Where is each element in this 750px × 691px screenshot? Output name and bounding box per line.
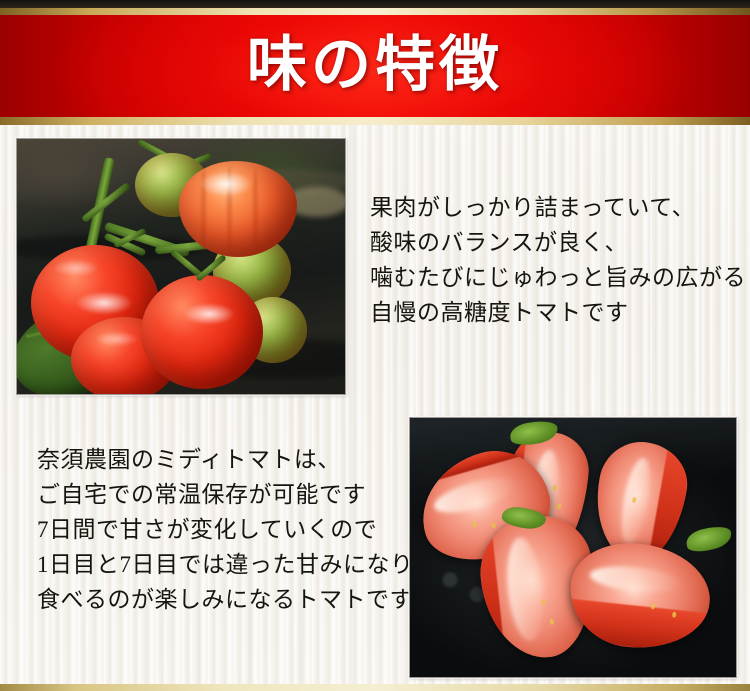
- header-top-dark-band: [0, 0, 750, 8]
- header-bottom-gold-rule: [0, 117, 750, 125]
- bottom-text-line-5: 食べるのが楽しみになるトマトです: [37, 582, 436, 617]
- header-top-gold-rule: [0, 8, 750, 15]
- tomato-highlight: [75, 291, 133, 315]
- red-tomato: [141, 275, 263, 389]
- section-header-banner: 味の特徴: [0, 0, 750, 125]
- top-text-line-1: 果肉がしっかり詰まっていて、: [370, 190, 746, 225]
- top-text-line-2: 酸味のバランスが良く、: [370, 225, 746, 260]
- tomato-highlight: [183, 303, 235, 325]
- tomato-ridge: [253, 169, 258, 251]
- tomato-highlight: [199, 171, 253, 197]
- bottom-description-text: 奈須農園のミディトマトは、 ご自宅での常温保存が可能です 7日間で甘さが変化して…: [37, 442, 436, 617]
- top-text-line-3: 噛むたびにじゅわっと旨みの広がる: [370, 260, 746, 295]
- ripe-tomatoes-on-vine-photo: [16, 138, 346, 395]
- cut-tomato-wedges-photo: [409, 417, 737, 678]
- tomato-wedge: [565, 537, 715, 655]
- top-description-text: 果肉がしっかり詰まっていて、 酸味のバランスが良く、 噛むたびにじゅわっと旨みの…: [370, 190, 746, 330]
- tomato-highlight: [95, 331, 139, 347]
- page-title: 味の特徴: [0, 22, 750, 108]
- bottom-text-line-1: 奈須農園のミディトマトは、: [37, 442, 436, 477]
- bottom-text-line-3: 7日間で甘さが変化していくので: [37, 512, 436, 547]
- top-text-line-4: 自慢の高糖度トマトです: [370, 295, 746, 330]
- bottom-text-line-4: 1日目と7日目では違った甘みになり、: [37, 547, 436, 582]
- bottom-text-line-2: ご自宅での常温保存が可能です: [37, 477, 436, 512]
- footer-gold-rule: [0, 684, 750, 691]
- tomato-highlight: [53, 259, 99, 277]
